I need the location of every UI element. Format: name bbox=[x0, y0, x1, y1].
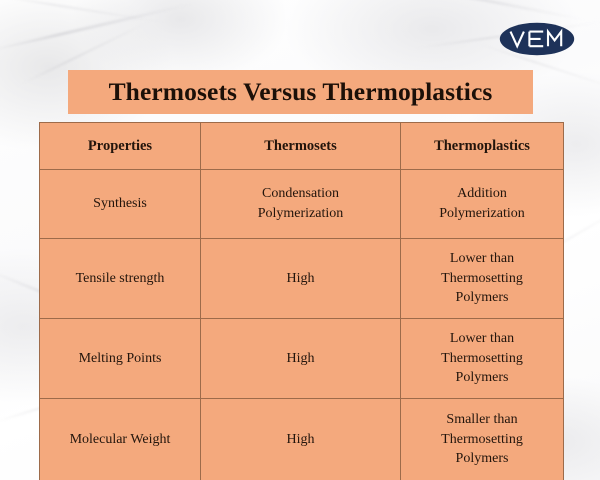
cell-thermoplastics: Lower than Thermosetting Polymers bbox=[401, 239, 564, 319]
cell-thermosets: Condensation Polymerization bbox=[201, 170, 401, 239]
table-row: Tensile strength High Lower than Thermos… bbox=[40, 239, 564, 319]
cell-line: Thermosetting bbox=[407, 269, 557, 289]
cell-thermoplastics: Addition Polymerization bbox=[401, 170, 564, 239]
cell-line: High bbox=[207, 349, 394, 369]
cell-property: Melting Points bbox=[40, 319, 201, 399]
cell-line: Polymerization bbox=[407, 204, 557, 224]
cell-line: Addition bbox=[407, 184, 557, 204]
cell-thermosets: High bbox=[201, 319, 401, 399]
cell-line: Polymerization bbox=[207, 204, 394, 224]
cell-line: High bbox=[207, 269, 394, 289]
cell-line: Lower than bbox=[407, 249, 557, 269]
column-header-properties: Properties bbox=[40, 123, 201, 170]
cell-thermoplastics: Lower than Thermosetting Polymers bbox=[401, 319, 564, 399]
cell-thermoplastics: Smaller than Thermosetting Polymers bbox=[401, 399, 564, 480]
cell-line: Condensation bbox=[207, 184, 394, 204]
table-row: Melting Points High Lower than Thermoset… bbox=[40, 319, 564, 399]
cell-thermosets: High bbox=[201, 399, 401, 480]
cell-line: High bbox=[207, 430, 394, 450]
column-header-thermosets: Thermosets bbox=[201, 123, 401, 170]
cell-line: Lower than bbox=[407, 329, 557, 349]
cell-line: Polymers bbox=[407, 368, 557, 388]
comparison-table: Properties Thermosets Thermoplastics Syn… bbox=[39, 122, 564, 480]
table-row: Synthesis Condensation Polymerization Ad… bbox=[40, 170, 564, 239]
cell-line: Polymers bbox=[407, 449, 557, 469]
cell-thermosets: High bbox=[201, 239, 401, 319]
cell-property: Tensile strength bbox=[40, 239, 201, 319]
cell-line: Polymers bbox=[407, 288, 557, 308]
column-header-thermoplastics: Thermoplastics bbox=[401, 123, 564, 170]
cell-line: Smaller than bbox=[407, 410, 557, 430]
vem-logo bbox=[499, 22, 575, 56]
table-row: Molecular Weight High Smaller than Therm… bbox=[40, 399, 564, 480]
cell-property: Synthesis bbox=[40, 170, 201, 239]
page-title: Thermosets Versus Thermoplastics bbox=[109, 79, 493, 105]
cell-line: Thermosetting bbox=[407, 430, 557, 450]
cell-line: Thermosetting bbox=[407, 349, 557, 369]
cell-property: Molecular Weight bbox=[40, 399, 201, 480]
title-banner: Thermosets Versus Thermoplastics bbox=[68, 70, 533, 114]
table-header-row: Properties Thermosets Thermoplastics bbox=[40, 123, 564, 170]
page-canvas: Thermosets Versus Thermoplastics Propert… bbox=[0, 0, 600, 480]
